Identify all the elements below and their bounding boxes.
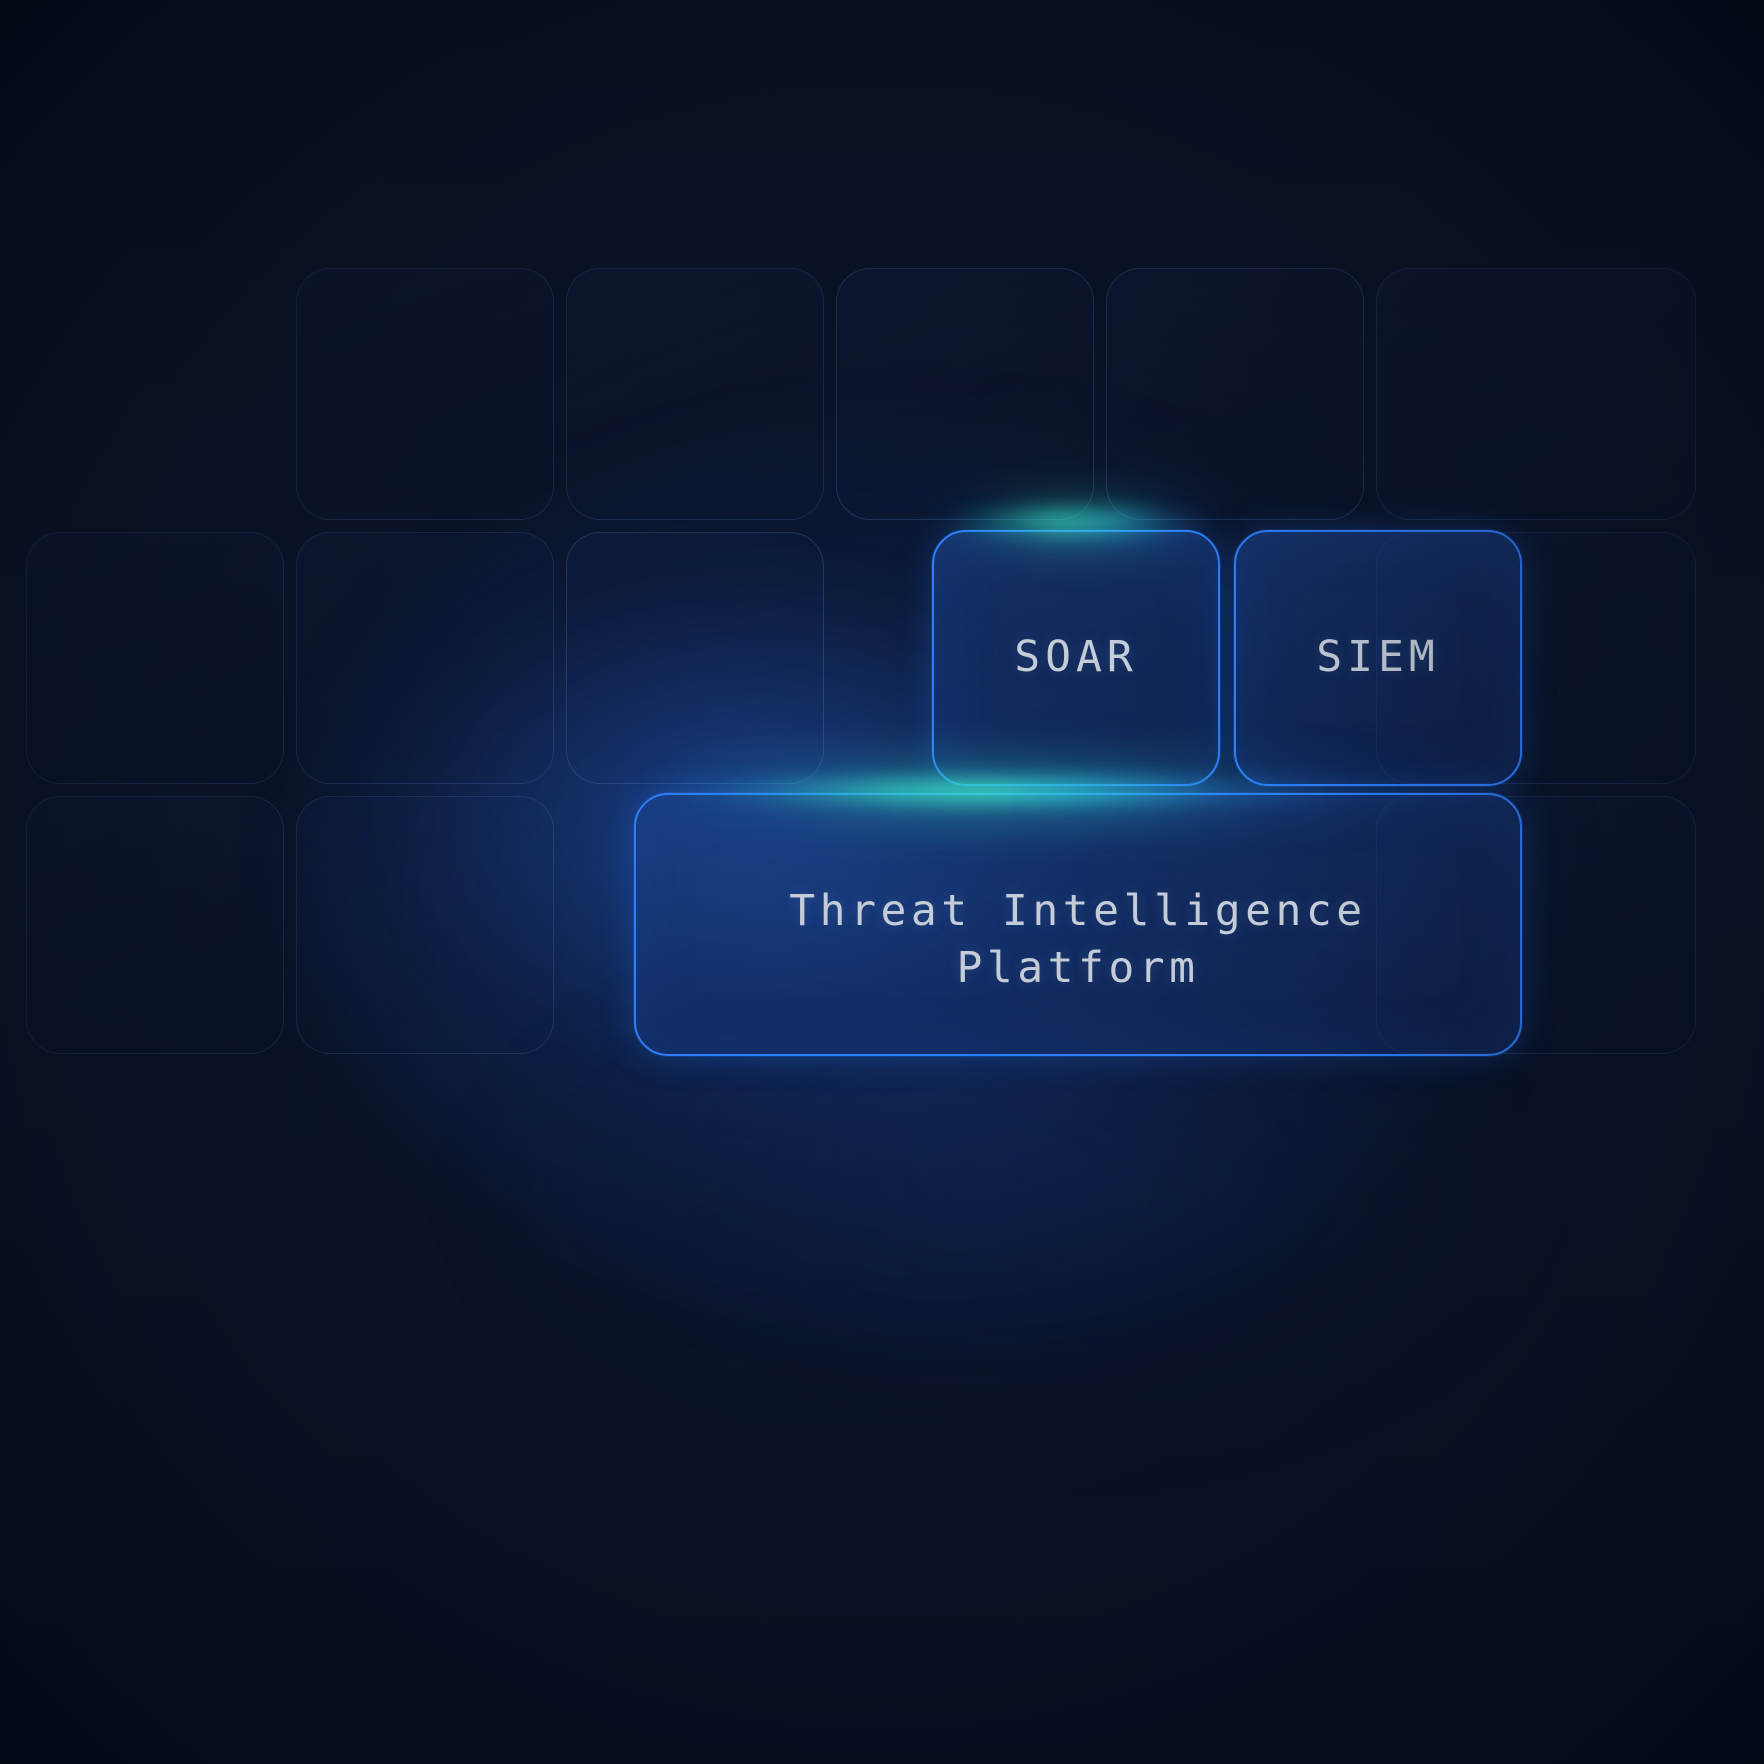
- placeholder-tile: [26, 532, 284, 784]
- placeholder-tile: [296, 268, 554, 520]
- placeholder-tile: [296, 532, 554, 784]
- placeholder-tile: [1376, 268, 1696, 520]
- placeholder-tile: [26, 796, 284, 1054]
- tile-platform-label: Threat Intelligence Platform: [636, 883, 1520, 997]
- tile-threat-intelligence-platform[interactable]: Threat Intelligence Platform: [634, 793, 1522, 1056]
- tile-soar-label: SOAR: [934, 631, 1218, 685]
- placeholder-tile: [566, 268, 824, 520]
- tile-siem-label: SIEM: [1236, 631, 1520, 685]
- tile-siem[interactable]: SIEM: [1234, 530, 1522, 786]
- placeholder-tile: [296, 796, 554, 1054]
- placeholder-tile: [836, 268, 1094, 520]
- tile-soar[interactable]: SOAR: [932, 530, 1220, 786]
- diagram-canvas: SOAR SIEM Threat Intelligence Platform: [0, 0, 1764, 1764]
- placeholder-tile: [566, 532, 824, 784]
- placeholder-tile: [1106, 268, 1364, 520]
